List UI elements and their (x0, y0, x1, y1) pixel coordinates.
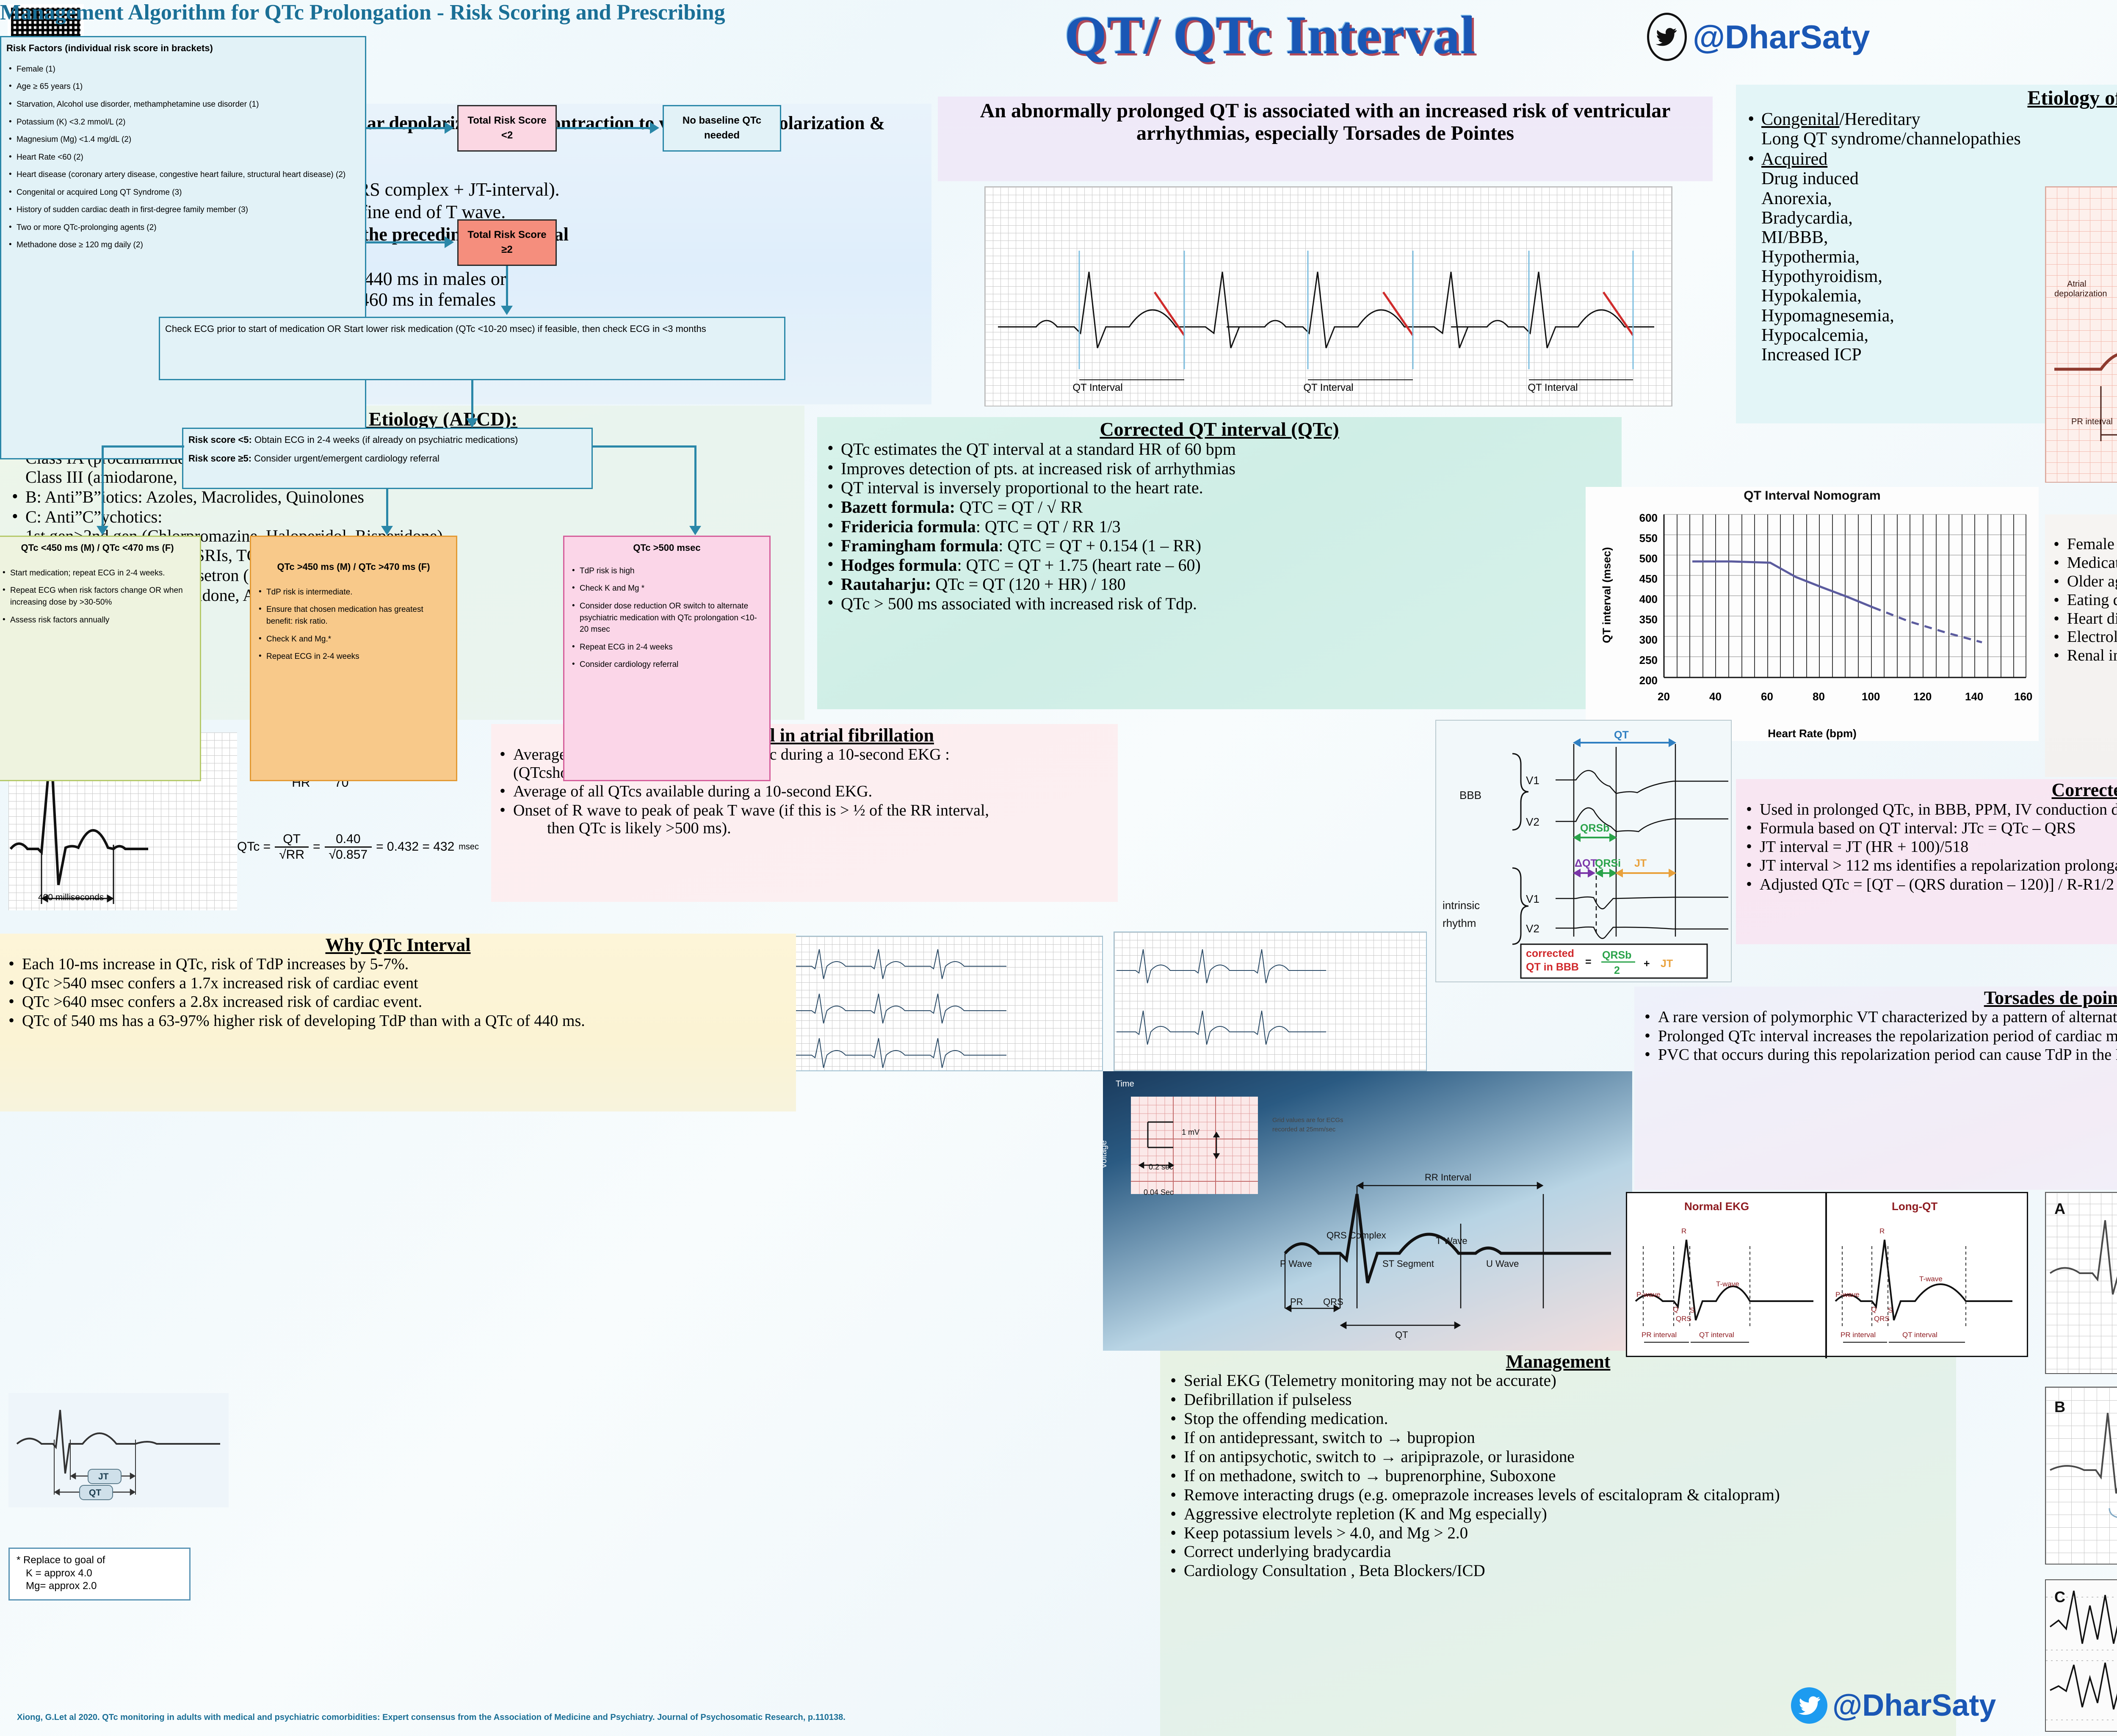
list-item: Age ≥ 65 years (1) (6, 81, 360, 93)
replace-goal-line3: Mg= approx 2.0 (17, 1580, 182, 1593)
qtc-formula: QTc = QT √RR = 0.40 √0.857 = 0.432 = 432… (237, 819, 525, 874)
flow-branch-right-v (694, 445, 696, 528)
acquired-0: Drug induced (1761, 169, 2065, 188)
svg-text:=: = (1585, 956, 1592, 968)
flow-branch-left-h (102, 445, 184, 448)
list-item: Onset of R wave to peak of peak T wave (… (495, 802, 1114, 838)
svg-text:1 mV: 1 mV (1182, 1128, 1199, 1136)
acquired-4: Hypothermia, (1761, 247, 2065, 267)
svg-text:QRS Complex: QRS Complex (1327, 1230, 1386, 1241)
risk-score-ge5-bold: Risk score ≥5: (188, 453, 251, 464)
etiology-heading: Etiology of prolonged QT (1744, 87, 2117, 110)
svg-text:intrinsic: intrinsic (1443, 899, 1480, 912)
list-item: Female gender (2049, 536, 2117, 553)
svg-text:RR Interval: RR Interval (1425, 1172, 1471, 1183)
check-ecg-text: Check ECG prior to start of medication O… (165, 323, 706, 334)
twitter-handle-text: @DharSaty (1832, 1688, 1996, 1723)
list-item: QTc >640 msec confers a 2.8x increased r… (4, 993, 792, 1011)
list-item: Medications metabolized by CYP 3A4 (e.g.… (2049, 554, 2117, 572)
list-item: Ensure that chosen medication has greate… (256, 604, 451, 627)
svg-text:BBB: BBB (1459, 789, 1481, 802)
formula-name-hodges: Hodges formula (841, 556, 957, 575)
list-item: Remove interacting drugs (e.g. omeprazol… (1166, 1486, 1950, 1504)
list-item: Prolonged QTc interval increases the rep… (1640, 1027, 2117, 1045)
svg-text:QT interval: QT interval (1902, 1331, 1937, 1339)
risk-factors-box-header: Risk Factors (individual risk score in b… (6, 41, 360, 55)
total-risk-score-lt2-box: Total Risk Score <2 (457, 105, 557, 152)
svg-text:+: + (1644, 958, 1650, 970)
list-item: Check K and Mg.* (256, 633, 451, 645)
svg-text:Q: Q (1871, 1305, 1877, 1313)
list-item: Potassium (K) <3.2 mmol/L (2) (6, 116, 360, 128)
svg-text:recorded at 25mm/sec: recorded at 25mm/sec (1272, 1126, 1336, 1133)
no-baseline-qtc-label: No baseline QTc needed (669, 113, 775, 143)
congenital-sub: Long QT syndrome/channelopathies (1761, 129, 2065, 149)
jt-label: JT (98, 1472, 109, 1482)
svg-text:QT in BBB: QT in BBB (1526, 961, 1579, 973)
list-item: Electrolyte disturbances (2049, 628, 2117, 646)
list-item: QTc of 540 ms has a 63-97% higher risk o… (4, 1012, 792, 1030)
flow-branch-left-v (102, 445, 104, 528)
qtc-den2: √0.857 (325, 848, 372, 862)
qtc-high-risk-title: QTc >500 msec (569, 541, 764, 555)
acquired-1: Anorexia, (1761, 189, 2065, 208)
qtc-normal-title: QTc <450 ms (M) / QTc <470 ms (F) (0, 541, 195, 555)
qtc-normal-box: QTc <450 ms (M) / QTc <470 ms (F) Start … (0, 536, 201, 781)
svg-text:ST Segment: ST Segment (1382, 1258, 1434, 1269)
etiology-list: Congenital/Hereditary Long QT syndrome/c… (1744, 110, 2065, 365)
flow-arrow-4 (506, 266, 508, 308)
svg-text:JT: JT (1634, 857, 1647, 869)
why-qtc-panel: Why QTc Interval Each 10-ms increase in … (0, 934, 796, 1111)
svg-text:rhythm: rhythm (1443, 917, 1476, 929)
qtc-intermediate-box: QTc >450 ms (M) / QTc >470 ms (F) TdP ri… (250, 536, 457, 781)
warning-text: An abnormally prolonged QT is associated… (980, 100, 1671, 144)
svg-text:QRSb: QRSb (1602, 949, 1631, 961)
ecg-panel-b-label: B (2054, 1398, 2065, 1415)
af-item-3: Onset of R wave to peak of peak T wave (… (513, 802, 989, 819)
twitter-bird-icon (1791, 1687, 1827, 1724)
qtc-result: = 0.432 = 432 (376, 840, 454, 854)
list-item: TdP risk is intermediate. (256, 586, 451, 598)
flow-branch-mid-head (381, 526, 393, 535)
risk-factors-box-list: Female (1) Age ≥ 65 years (1) Starvation… (6, 64, 360, 251)
svg-text:Atrial: Atrial (2067, 279, 2087, 289)
svg-text:V2: V2 (1526, 815, 1539, 828)
acquired-2: Bradycardia, (1761, 208, 2065, 228)
af-item-4: then QTc is likely >500 ms). (513, 819, 1114, 838)
list-item: Defibrillation if pulseless (1166, 1391, 1950, 1409)
formula-name-bazett: Bazett formula: (841, 498, 955, 517)
qtc-unit: msec (459, 842, 479, 852)
flow-arrow-5 (471, 380, 473, 420)
svg-text:U Wave: U Wave (1486, 1258, 1519, 1269)
list-item: Improves detection of pts. at increased … (823, 459, 1616, 478)
list-item: Aggressive electrolyte repletion (K and … (1166, 1505, 1950, 1523)
total-risk-score-lt2-label: Total Risk Score <2 (464, 113, 550, 143)
formula-body-fridericia: : QTC = QT / RR 1/3 (976, 517, 1121, 536)
qtc-den1: √RR (275, 848, 309, 862)
twitter-handle-bottom[interactable]: @DharSaty (1791, 1687, 1996, 1724)
flow-arrow-3-head (650, 122, 659, 134)
svg-text:corrected: corrected (1526, 948, 1574, 959)
ecg-wave-diagram: QRS duration PR interval QT interval Atr… (2045, 186, 2117, 483)
acquired-6: Hypokalemia, (1761, 286, 2065, 306)
acquired-8: Hypocalcemia, (1761, 326, 2065, 345)
abcd-main-2: C: Anti”C”ychotics: (25, 507, 162, 526)
list-item: QTc > 500 ms associated with increased r… (823, 594, 1616, 613)
citation: Xiong, G.Let al 2020. QTc monitoring in … (17, 1713, 1118, 1722)
list-item: Stop the offending medication. (1166, 1410, 1950, 1428)
qtc-num2: 0.40 (325, 832, 372, 848)
ecg-paper-voltage-diagram: Time Voltage 1 mV 0.2 sec (1103, 1071, 1632, 1351)
list-item: Formula based on QT interval: JTc = QTc … (1742, 819, 2117, 837)
list-item: If on methadone, switch to → buprenorphi… (1166, 1467, 1950, 1485)
twitter-bird-icon (1647, 13, 1687, 61)
list-item: Older age (>65 years) (2049, 573, 2117, 591)
qt-label: QT (89, 1488, 101, 1498)
risk-score-ge5-text: Consider urgent/emergent cardiology refe… (251, 453, 439, 464)
formula-name-framingham: Framingham formula (841, 536, 998, 555)
list-item: Used in prolonged QTc, in BBB, PPM, IV c… (1742, 801, 2117, 818)
formula-body-framingham: : QTC = QT + 0.154 (1 – RR) (998, 536, 1201, 555)
risk-factors-heading: Risk factors for QT prolongation (2049, 515, 2117, 536)
replace-goal-line1: * Replace to goal of (17, 1554, 182, 1567)
list-item: Consider dose reduction OR switch to alt… (569, 600, 764, 636)
why-list: Each 10-ms increase in QTc, risk of TdP … (4, 955, 792, 1030)
jt-list: Used in prolonged QTc, in BBB, PPM, IV c… (1742, 801, 2117, 893)
list-item: A rare version of polymorphic VT charact… (1640, 1008, 2117, 1026)
list-item: Two or more QTc-prolonging agents (2) (6, 222, 360, 234)
list-item: Check K and Mg * (569, 583, 764, 594)
management-panel: Management Serial EKG (Telemetry monitor… (1160, 1351, 1956, 1736)
twitter-handle-text: @DharSaty (1693, 18, 1870, 56)
ecg-panel-a: A Normal QT-Interval (2045, 1192, 2117, 1374)
prolongation-males: QT > 440 ms in males or (320, 268, 920, 289)
svg-text:2: 2 (1614, 965, 1620, 976)
list-item: Acquired Drug induced Anorexia, Bradycar… (1744, 149, 2065, 365)
total-risk-score-ge2-label: Total Risk Score ≥2 (464, 228, 550, 257)
qtc-eq: = (313, 840, 321, 854)
list-item: JT interval = JT (HR + 100)/518 (1742, 838, 2117, 856)
list-item: Framingham formula: QTC = QT + 0.154 (1 … (823, 536, 1616, 555)
jt-heading: Corrected JT interval (1742, 780, 2117, 801)
list-item: QT interval is inversely proportional to… (823, 478, 1616, 497)
list-item: PVC that occurs during this repolarizati… (1640, 1046, 2117, 1064)
flow-arrow-1-head (445, 122, 454, 134)
qtc-heading: Corrected QT interval (QTc) (823, 419, 1616, 440)
long-qt-label: Long-QT (1892, 1200, 1937, 1213)
svg-text:P-wave: P-wave (1835, 1291, 1860, 1299)
warning-panel: An abnormally prolonged QT is associated… (938, 97, 1713, 181)
acquired-3: MI/BBB, (1761, 228, 2065, 247)
list-item: Heart disease (MI, HF, Bradycardia) (2049, 610, 2117, 628)
svg-text:V1: V1 (1526, 774, 1539, 787)
ecg-scale-label: 400 milliseconds (38, 893, 104, 903)
list-item: Methadone dose ≥ 120 mg daily (2) (6, 239, 360, 251)
svg-text:QRSi: QRSi (1595, 857, 1621, 869)
list-item: Consider cardiology referral (569, 659, 764, 671)
svg-text:ΔQT: ΔQT (1575, 857, 1597, 869)
svg-text:QRS: QRS (1874, 1315, 1890, 1323)
jt-qt-interval-diagram: JT QT (8, 1393, 229, 1507)
qtc-high-risk-list: TdP risk is high Check K and Mg * Consid… (569, 565, 764, 671)
ecg-panel-b: B Prolonged QT-Interval (2045, 1387, 2117, 1565)
list-item: Cardiology Consultation , Beta Blockers/… (1166, 1562, 1950, 1580)
flow-arrow-4-head (501, 306, 513, 315)
svg-text:R: R (1879, 1227, 1885, 1235)
replace-goal-line2: K = approx 4.0 (17, 1567, 182, 1580)
list-item: Keep potassium levels > 4.0, and Mg > 2.… (1166, 1524, 1950, 1542)
list-item: Bazett formula: QTC = QT / √ RR (823, 498, 1616, 517)
acquired-label: Acquired (1761, 149, 1827, 169)
flow-arrow-3 (557, 127, 654, 129)
svg-text:S: S (1888, 1306, 1893, 1314)
svg-text:JT: JT (1661, 958, 1673, 970)
svg-text:PR interval: PR interval (2071, 417, 2113, 426)
flow-arrow-2 (366, 241, 449, 243)
svg-text:PR: PR (1290, 1296, 1303, 1307)
list-item: Adjusted QTc = [QT – (QRS duration – 120… (1742, 876, 2117, 893)
list-item: Start medication; repeat ECG in 2-4 week… (0, 567, 195, 579)
list-item: Correct underlying bradycardia (1166, 1543, 1950, 1561)
formula-body-hodges: : QTC = QT + 1.75 (heart rate – 60) (957, 556, 1200, 575)
risk-factors-box: Risk Factors (individual risk score in b… (0, 36, 366, 459)
normal-ekg-label: Normal EKG (1684, 1200, 1749, 1213)
list-item: Heart disease (coronary artery disease, … (6, 169, 360, 181)
list-item: Fridericia formula: QTC = QT / RR 1/3 (823, 517, 1616, 536)
svg-text:0.04 Sec: 0.04 Sec (1144, 1188, 1174, 1197)
svg-text:P-wave: P-wave (1636, 1291, 1661, 1299)
list-item: Female (1) (6, 64, 360, 75)
svg-text:QT: QT (1614, 729, 1629, 741)
risk-score-ge5-line: Risk score ≥5: Consider urgent/emergent … (188, 452, 586, 465)
list-item: Repeat ECG in 2-4 weeks (256, 651, 451, 663)
list-item: If on antipsychotic, switch to → aripipr… (1166, 1448, 1950, 1466)
flow-arrow-5-head (466, 418, 478, 428)
risk-factors-panel: Risk factors for QT prolongation Female … (2045, 514, 2117, 777)
tdp-heading: Torsades de pointes (TdP) (1640, 987, 2117, 1008)
ecg-thumbnail-strip-1 (785, 936, 1103, 1071)
risk-score-decision-box: Risk score <5: Obtain ECG in 2-4 weeks (… (182, 428, 593, 489)
qt-nomogram-chart: QT Interval Nomogram QT interval (msec) … (1586, 487, 2039, 741)
congenital-label: Congenital (1761, 110, 1839, 129)
svg-text:QT: QT (1395, 1330, 1408, 1340)
acquired-5: Hypothyroidism, (1761, 267, 2065, 286)
svg-text:PR interval: PR interval (1642, 1331, 1677, 1339)
qtc-list: QTc estimates the QT interval at a stand… (823, 440, 1616, 613)
list-item: JT interval > 112 ms identifies a repola… (1742, 857, 2117, 874)
acquired-7: Hypomagnesemia, (1761, 306, 2065, 326)
list-item: Eating disorders (2049, 592, 2117, 609)
svg-text:QRS: QRS (1323, 1296, 1343, 1307)
flow-arrow-1 (366, 127, 449, 129)
formula-name-rautaharju: Rautaharju: (841, 575, 931, 594)
qtc-normal-list: Start medication; repeat ECG in 2-4 week… (0, 567, 195, 626)
list-item: QTc >540 msec confers a 1.7x increased r… (4, 974, 792, 992)
check-ecg-box: Check ECG prior to start of medication O… (159, 317, 785, 380)
qtc-panel: Corrected QT interval (QTc) QTc estimate… (817, 417, 1622, 709)
svg-text:R: R (1681, 1227, 1686, 1235)
qtc-high-risk-box: QTc >500 msec TdP risk is high Check K a… (563, 536, 771, 781)
list-item: Magnesium (Mg) <1.4 mg/dL (2) (6, 134, 360, 146)
acquired-9: Increased ICP (1761, 345, 2065, 365)
list-item: B: Anti”B”iotics: Azoles, Macrolides, Qu… (8, 488, 797, 507)
svg-text:T-wave: T-wave (1919, 1275, 1943, 1283)
list-item: Assess risk factors annually (0, 614, 195, 626)
flow-branch-mid-v (386, 489, 388, 528)
no-baseline-qtc-box: No baseline QTc needed (663, 105, 781, 152)
qtc-label: QTc = (237, 840, 271, 854)
svg-text:QT interval: QT interval (1699, 1331, 1734, 1339)
tdp-panel: Torsades de pointes (TdP) A rare version… (1634, 987, 2117, 1190)
list-item: Congenital/Hereditary Long QT syndrome/c… (1744, 110, 2065, 149)
svg-text:T Wave: T Wave (1436, 1236, 1468, 1246)
svg-text:PR interval: PR interval (1841, 1331, 1876, 1339)
replace-goal-note: * Replace to goal of K = approx 4.0 Mg= … (8, 1548, 191, 1601)
management-list: Serial EKG (Telemetry monitoring may not… (1166, 1372, 1950, 1580)
twitter-handle-top[interactable]: @DharSaty (1647, 13, 1870, 61)
jt-panel: Corrected JT interval Used in prolonged … (1736, 779, 2117, 944)
congenital-rest: /Hereditary (1839, 110, 1920, 129)
ecg-panel-a-label: A (2054, 1200, 2065, 1217)
flowchart-title: Management Algorithm for QTc Prolongatio… (0, 0, 931, 25)
svg-text:S: S (1690, 1306, 1694, 1314)
list-item: Repeat ECG when risk factors change OR w… (0, 585, 195, 608)
list-item: Repeat ECG in 2-4 weeks (569, 641, 764, 653)
flow-arrow-2-head (445, 236, 454, 248)
flow-branch-left-head (97, 526, 108, 535)
list-item: QTc estimates the QT interval at a stand… (823, 440, 1616, 459)
list-item: History of sudden cardiac death in first… (6, 204, 360, 216)
qtc-num1: QT (275, 832, 309, 848)
list-item: TdP risk is high (569, 565, 764, 577)
prolongation-females: QT >460 ms in females (320, 289, 920, 310)
list-item: Each 10-ms increase in QTc, risk of TdP … (4, 955, 792, 973)
svg-text:P Wave: P Wave (1280, 1258, 1312, 1269)
list-item: Rautaharju: QTc = QT (120 + HR) / 180 (823, 575, 1616, 594)
list-item: Renal impairment (CrCl <20ml/min) (2049, 647, 2117, 665)
svg-text:QRSb: QRSb (1580, 822, 1609, 834)
list-item: Starvation, Alcohol use disorder, metham… (6, 99, 360, 111)
bbb-qt-diagram: BBB V1V2 intrinsicrhythm V1V2 QT QRSb ΔQ… (1435, 720, 1732, 982)
svg-text:Q: Q (1673, 1305, 1678, 1313)
qtc-intermediate-title: QTc >450 ms (M) / QTc >470 ms (F) (256, 560, 451, 574)
svg-text:depolarization: depolarization (2054, 289, 2107, 299)
svg-text:V2: V2 (1526, 922, 1539, 935)
ecg-strip-triptych: QT Interval QT Interval QT Interval (984, 186, 1672, 406)
list-item: Hodges formula: QTC = QT + 1.75 (heart r… (823, 556, 1616, 575)
list-item: If on antidepressant, switch to → buprop… (1166, 1429, 1950, 1447)
svg-text:Voltage: Voltage (1103, 1140, 1108, 1169)
qtc-intermediate-list: TdP risk is intermediate. Ensure that ch… (256, 586, 451, 663)
list-item: Congenital or acquired Long QT Syndrome … (6, 187, 360, 199)
ecg-panel-c: C Torsades de Pointes (2045, 1579, 2117, 1732)
risk-score-lt5-bold: Risk score <5: (188, 434, 252, 445)
list-item: Average of all QTcs available during a 1… (495, 782, 1114, 801)
svg-text:T-wave: T-wave (1716, 1280, 1739, 1288)
risk-score-lt5-text: Obtain ECG in 2-4 weeks (if already on p… (252, 434, 518, 445)
list-item: Heart Rate <60 (2) (6, 152, 360, 163)
tdp-list: A rare version of polymorphic VT charact… (1640, 1008, 2117, 1064)
formula-name-fridericia: Fridericia formula (841, 517, 976, 536)
why-heading: Why QTc Interval (4, 934, 792, 955)
list-item: Serial EKG (Telemetry monitoring may not… (1166, 1372, 1950, 1390)
svg-text:V1: V1 (1526, 893, 1539, 905)
formula-body-rautaharju: QTc = QT (120 + HR) / 180 (931, 575, 1125, 594)
formula-body-bazett: QTC = QT / √ RR (955, 498, 1083, 517)
ecg-panel-c-label: C (2054, 1588, 2065, 1606)
ecg-thumbnail-strip-2 (1114, 932, 1427, 1071)
flow-branch-right-h (593, 445, 696, 448)
risk-score-lt5-line: Risk score <5: Obtain ECG in 2-4 weeks (… (188, 433, 586, 447)
normal-vs-longqt-panel: Normal EKG Long-QT RQS QRSP-waveT-wave P… (1626, 1192, 2028, 1357)
svg-text:QRS: QRS (1676, 1315, 1691, 1323)
svg-text:Grid values are for ECGs: Grid values are for ECGs (1272, 1117, 1343, 1124)
risk-factors-list: Female gender Medications metabolized by… (2049, 536, 2117, 665)
total-risk-score-ge2-box: Total Risk Score ≥2 (457, 219, 557, 266)
flow-branch-right-head (689, 526, 701, 535)
svg-text:Time: Time (1116, 1079, 1134, 1089)
